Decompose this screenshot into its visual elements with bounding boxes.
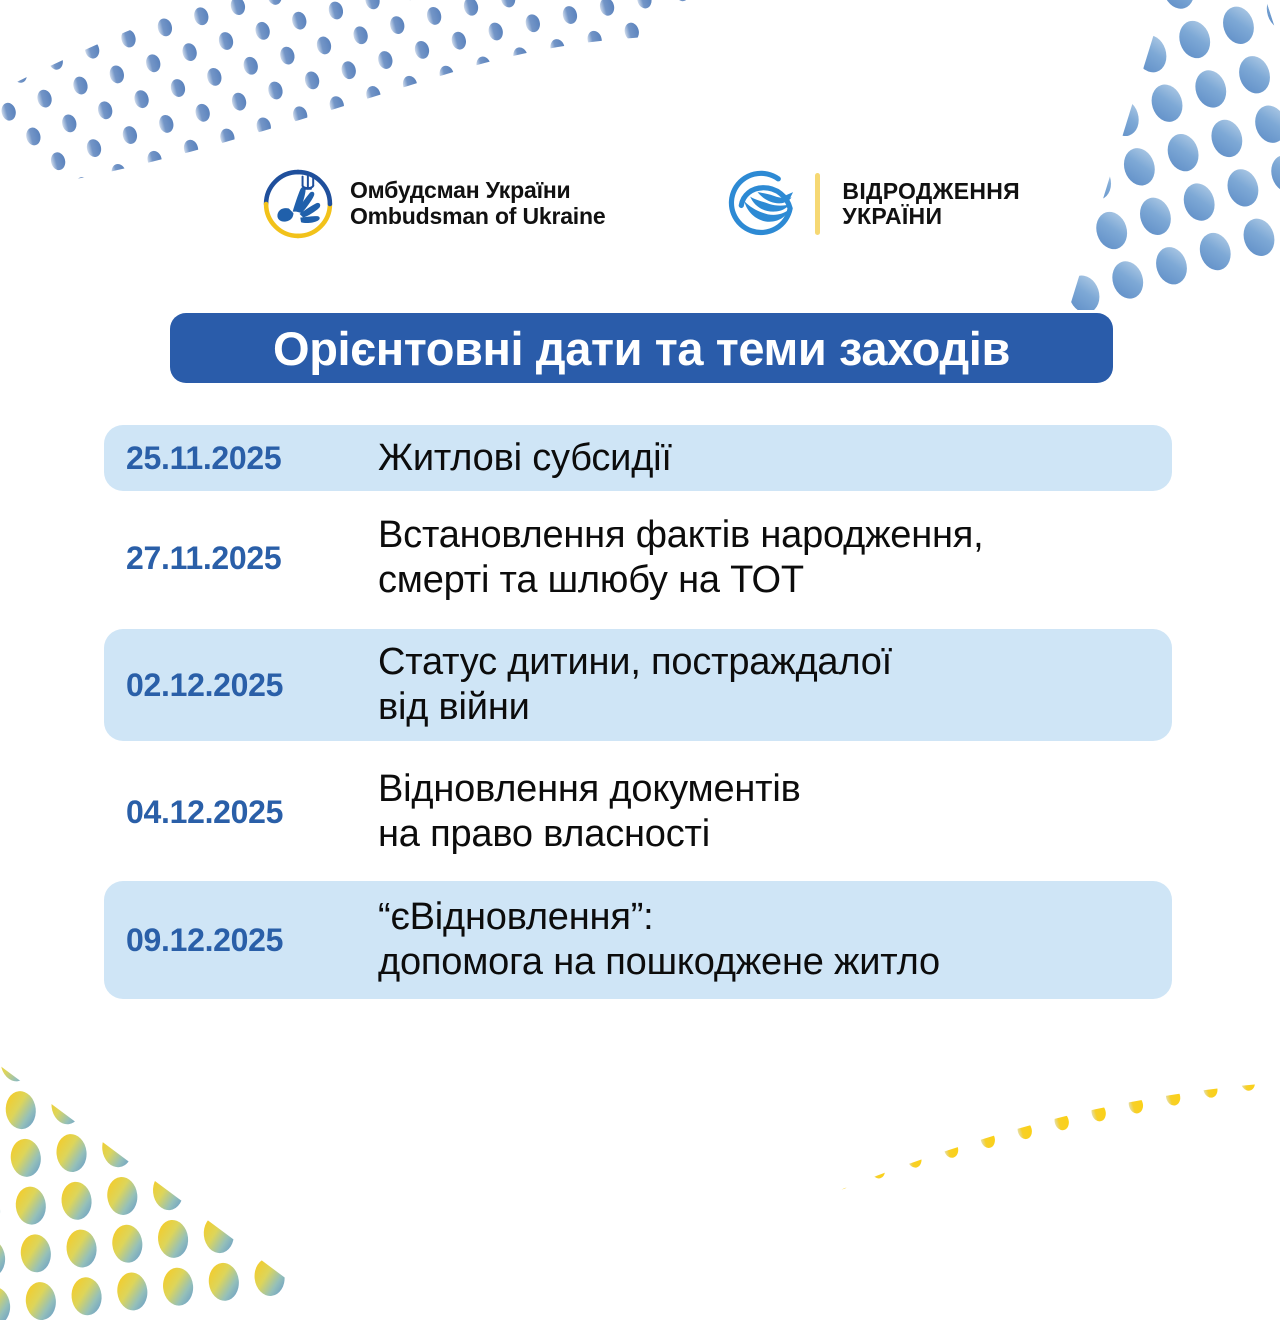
list-item: 25.11.2025 Житлові субсидії (104, 425, 1172, 491)
ombudsman-dove-trident-icon (260, 166, 336, 242)
title-banner: Орієнтовні дати та теми заходів (170, 313, 1113, 383)
logo-divider (815, 173, 820, 235)
event-date: 04.12.2025 (126, 794, 378, 831)
dot-grid-bottom-left-icon (0, 990, 300, 1320)
dot-grid-top-right-icon (960, 0, 1280, 310)
logo-bar: Омбудсман України Ombudsman of Ukraine В… (0, 158, 1280, 250)
event-date: 09.12.2025 (126, 922, 378, 959)
list-item: 02.12.2025 Статус дитини, постраждалої в… (104, 629, 1172, 741)
list-item: 27.11.2025 Встановлення фактів народженн… (104, 503, 1172, 613)
event-date: 27.11.2025 (126, 540, 378, 577)
event-topic: Встановлення фактів народження, смерті т… (378, 513, 1172, 603)
revival-logo-text: ВІДРОДЖЕННЯ УКРАЇНИ (842, 179, 1020, 230)
revival-title-line1: ВІДРОДЖЕННЯ (842, 179, 1020, 204)
event-date: 25.11.2025 (126, 440, 378, 477)
poster-canvas: Омбудсман України Ombudsman of Ukraine В… (0, 0, 1280, 1280)
ombudsman-title-uk: Омбудсман України (350, 178, 605, 204)
ombudsman-logo-text: Омбудсман України Ombudsman of Ukraine (350, 178, 605, 230)
list-item: 04.12.2025 Відновлення документів на пра… (104, 757, 1172, 867)
ombudsman-title-en: Ombudsman of Ukraine (350, 204, 605, 230)
dotted-wave-bottom-right-icon (620, 1040, 1280, 1310)
revival-logo: ВІДРОДЖЕННЯ УКРАЇНИ (725, 167, 1020, 241)
event-topic: “єВідновлення”: допомога на пошкоджене ж… (378, 895, 1172, 985)
ombudsman-logo: Омбудсман України Ombudsman of Ukraine (260, 166, 605, 242)
revival-title-line2: УКРАЇНИ (842, 204, 1020, 229)
schedule-list: 25.11.2025 Житлові субсидії 27.11.2025 В… (104, 425, 1172, 999)
event-topic: Житлові субсидії (378, 436, 1172, 481)
event-date: 02.12.2025 (126, 667, 378, 704)
event-topic: Статус дитини, постраждалої від війни (378, 640, 1172, 730)
revival-bird-icon (725, 167, 799, 241)
list-item: 09.12.2025 “єВідновлення”: допомога на п… (104, 881, 1172, 999)
event-topic: Відновлення документів на право власност… (378, 767, 1172, 857)
page-title: Орієнтовні дати та теми заходів (273, 321, 1010, 376)
